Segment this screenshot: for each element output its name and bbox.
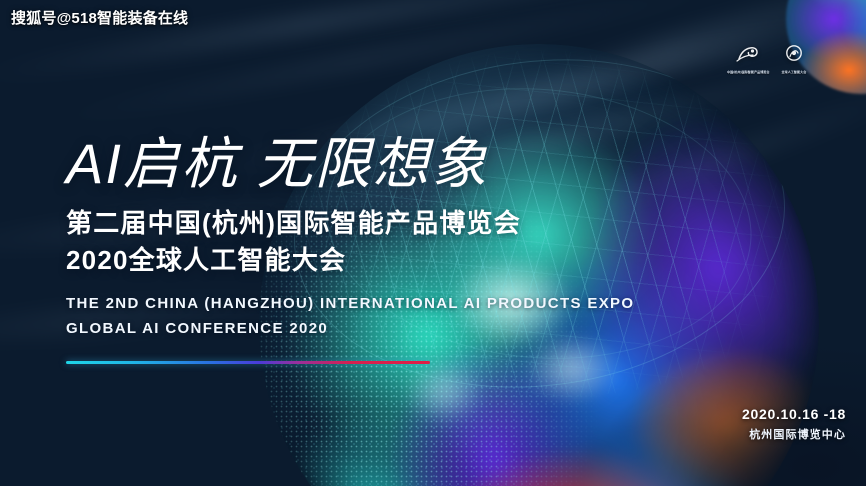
hangzhou-emblem-logo: 中国(杭州)国际智能产品博览会	[727, 44, 770, 74]
event-date-block: 2020.10.16 -18 杭州国际博览中心	[742, 406, 846, 442]
sohu-watermark: 搜狐号@518智能装备在线	[11, 7, 188, 28]
poster-copy-block: AI启杭 无限想象 第二届中国(杭州)国际智能产品博览会 2020全球人工智能大…	[66, 134, 634, 364]
poster-headline: AI启杭 无限想象	[66, 134, 634, 194]
subtitle-en-line-2: GLOBAL AI CONFERENCE 2020	[66, 317, 634, 341]
event-venue: 杭州国际博览中心	[742, 426, 846, 442]
gradient-divider-rule	[66, 361, 430, 364]
hangzhou-emblem-caption: 中国(杭州)国际智能产品博览会	[727, 71, 770, 74]
subtitle-cn-line-1: 第二届中国(杭州)国际智能产品博览会	[66, 205, 634, 242]
event-poster: 搜狐号@518智能装备在线 中国(杭州)国际智能产品博览会 全球人工智能	[0, 0, 866, 486]
poster-subtitle-english: THE 2ND CHINA (HANGZHOU) INTERNATIONAL A…	[66, 292, 634, 341]
conference-seal-logo: 全球人工智能大会	[782, 44, 807, 74]
poster-subtitle-chinese: 第二届中国(杭州)国际智能产品博览会 2020全球人工智能大会	[66, 205, 634, 279]
organiser-logos: 中国(杭州)国际智能产品博览会 全球人工智能大会	[727, 44, 806, 74]
conference-seal-icon	[784, 44, 804, 69]
subtitle-en-line-1: THE 2ND CHINA (HANGZHOU) INTERNATIONAL A…	[66, 292, 634, 316]
hangzhou-emblem-icon	[735, 44, 761, 69]
conference-seal-caption: 全球人工智能大会	[782, 71, 807, 74]
event-date: 2020.10.16 -18	[742, 406, 846, 422]
subtitle-cn-line-2: 2020全球人工智能大会	[66, 242, 634, 279]
